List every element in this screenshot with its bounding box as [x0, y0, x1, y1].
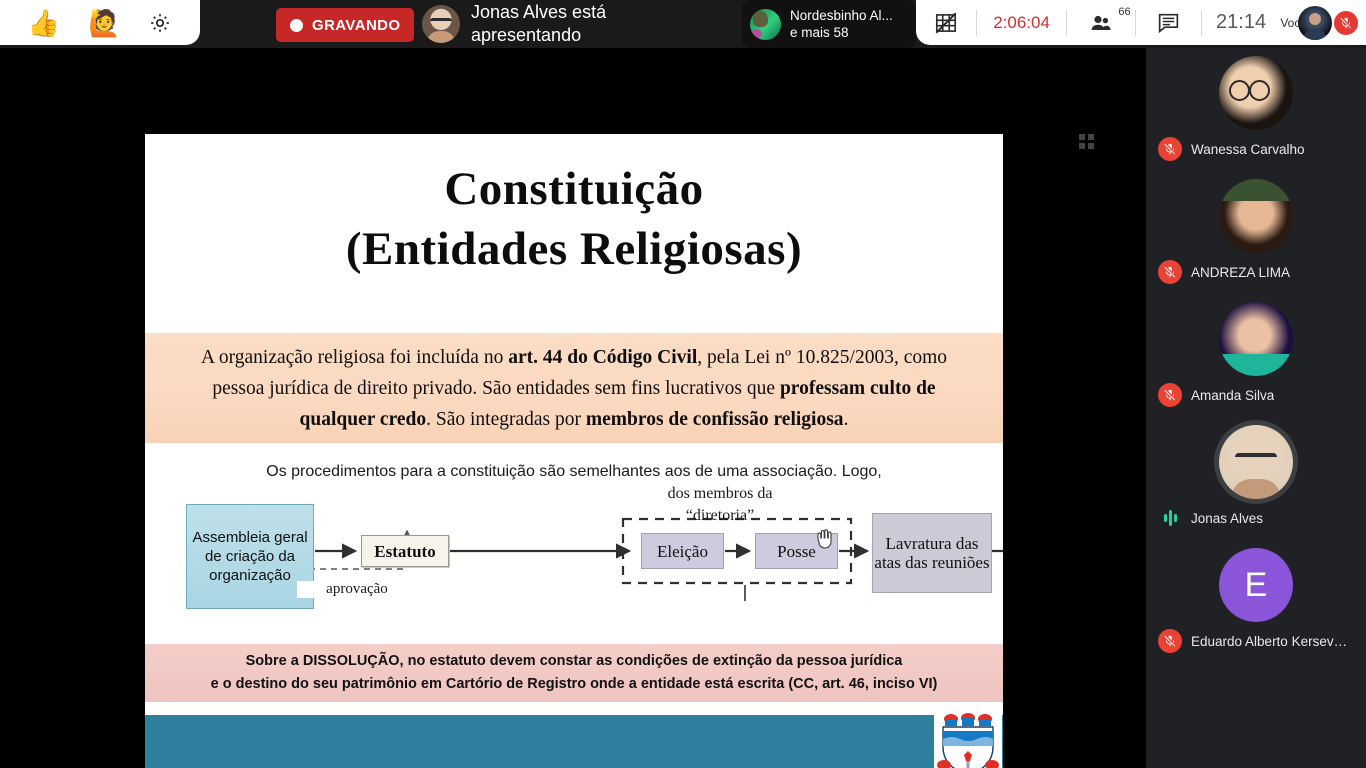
slide-title: Constituição (Entidades Religiosas)	[145, 134, 1003, 279]
procedure-line: Os procedimentos para a constituição são…	[145, 463, 1003, 481]
avatar	[1219, 56, 1293, 130]
avatar	[1219, 302, 1293, 376]
intro-callout: A organização religiosa foi incluída no …	[145, 333, 1003, 443]
dissolution-callout: Sobre a DISSOLUÇÃO, no estatuto devem co…	[145, 644, 1003, 702]
label-aprovacao: aprovação	[297, 581, 417, 598]
top-toolbar: 👍 🙋 GRAVANDO Jonas Alves está apresentan…	[0, 0, 1366, 48]
grid-off-icon[interactable]	[916, 0, 976, 45]
participant-tile[interactable]: Wanessa Carvalho	[1146, 48, 1366, 171]
raise-hand-icon[interactable]: 🙋	[88, 10, 120, 36]
participants-sidebar[interactable]: Wanessa Carvalho ANDREZA LIMA	[1146, 48, 1366, 768]
slide-content[interactable]: Constituição (Entidades Religiosas) A or…	[145, 134, 1003, 768]
flow-box-eleicao: Eleição	[641, 533, 724, 569]
participant-name: Amanda Silva	[1191, 388, 1274, 403]
intro-p1: A organização religiosa foi incluída no	[201, 347, 508, 368]
grab-hand-cursor	[814, 526, 836, 550]
intro-b1: art. 44 do Código Civil	[508, 347, 697, 368]
avatar	[1219, 179, 1293, 253]
self-tile[interactable]: Você	[1280, 0, 1366, 45]
slide-title-line2: (Entidades Religiosas)	[145, 219, 1003, 279]
label-diretoria-line1: dos membros da	[615, 483, 825, 505]
expand-icon[interactable]	[1079, 134, 1095, 150]
recording-indicator[interactable]: GRAVANDO	[276, 8, 414, 42]
avatar	[1219, 425, 1293, 499]
process-flow-diagram-right: dos membros da “diretoria” Eleição Posse…	[145, 489, 1003, 629]
participant-tile[interactable]: ANDREZA LIMA	[1146, 171, 1366, 294]
reactions-panel: 👍 🙋	[0, 0, 200, 45]
label-diretoria: dos membros da “diretoria”	[615, 483, 825, 527]
participants-button[interactable]: 66	[1067, 0, 1134, 45]
mic-off-icon	[1158, 137, 1182, 161]
presentation-stage[interactable]: Constituição (Entidades Religiosas) A or…	[0, 48, 1146, 768]
avatar-initial: E	[1219, 548, 1293, 622]
mic-active-icon	[1158, 506, 1182, 530]
participant-tile[interactable]: Amanda Silva	[1146, 294, 1366, 417]
meeting-timer: 2:06:04	[977, 0, 1067, 45]
mic-off-icon	[1158, 260, 1182, 284]
avatar	[750, 9, 781, 40]
meeting-controls-panel: 2:06:04 66 21:14	[916, 0, 1366, 45]
dissolution-text: Sobre a DISSOLUÇÃO, no estatuto devem co…	[164, 650, 984, 696]
clock: 21:14	[1202, 0, 1280, 45]
self-label: Você	[1280, 16, 1307, 30]
participant-name: Wanessa Carvalho	[1191, 142, 1305, 157]
intro-p3: . São integradas por	[426, 409, 586, 430]
presenter-label: Jonas Alves está apresentando	[471, 1, 671, 47]
participants-count: 66	[1118, 6, 1130, 18]
meeting-screen: 👍 🙋 GRAVANDO Jonas Alves está apresentan…	[0, 0, 1366, 768]
recording-label: GRAVANDO	[312, 17, 400, 34]
slide-footer-bar	[145, 715, 1003, 768]
gear-icon[interactable]	[148, 11, 172, 35]
label-diretoria-line2: “diretoria”	[615, 505, 825, 527]
coat-of-arms-logo	[934, 709, 1002, 768]
mic-off-icon	[1158, 629, 1182, 653]
participant-name: ANDREZA LIMA	[1191, 265, 1290, 280]
slide-title-line1: Constituição	[145, 159, 1003, 219]
mic-off-icon[interactable]	[1334, 11, 1358, 35]
pinned-participant-tile[interactable]: Nordesbinho Al... e mais 58	[742, 0, 916, 48]
mic-off-icon	[1158, 383, 1182, 407]
chat-button[interactable]	[1136, 0, 1201, 45]
presenter-status: Jonas Alves está apresentando	[422, 0, 671, 48]
thumbs-up-icon[interactable]: 👍	[28, 10, 60, 36]
intro-text: A organização religiosa foi incluída no …	[179, 342, 969, 435]
participant-name: Jonas Alves	[1191, 511, 1263, 526]
participant-tile[interactable]: E Eduardo Alberto Kersevani...	[1146, 540, 1366, 663]
dissolution-line1: Sobre a DISSOLUÇÃO, no estatuto devem co…	[164, 650, 984, 673]
participant-name: Eduardo Alberto Kersevani...	[1191, 634, 1351, 649]
flow-box-lavratura: Lavratura das atas das reuniões	[872, 513, 992, 593]
dissolution-line2: e o destino do seu patrimônio em Cartóri…	[164, 673, 984, 696]
participant-tile-speaking[interactable]: Jonas Alves	[1146, 417, 1366, 540]
intro-b3: membros de confissão religiosa	[586, 409, 844, 430]
record-dot-icon	[290, 19, 303, 32]
pinned-tile-title: Nordesbinho Al...	[790, 7, 893, 24]
intro-p4: .	[844, 409, 849, 430]
pinned-tile-subtitle: e mais 58	[790, 24, 893, 41]
presenter-avatar	[422, 5, 460, 43]
